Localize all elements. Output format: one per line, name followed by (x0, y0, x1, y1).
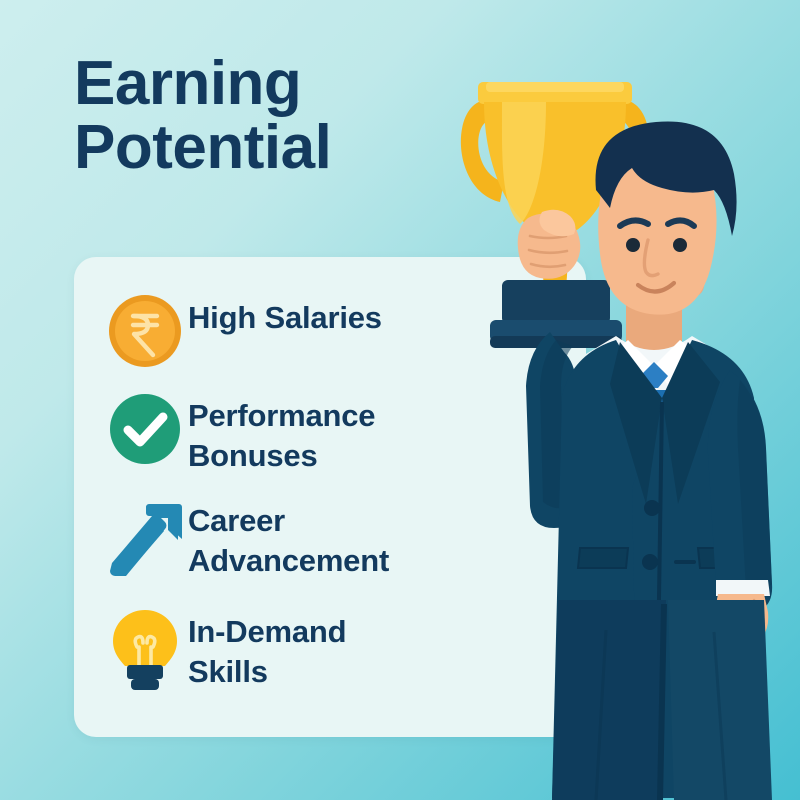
list-item-label: Performance Bonuses (188, 389, 375, 477)
lightbulb-icon (102, 605, 188, 693)
infographic-poster: Earning Potential High Salar (0, 0, 800, 800)
hand-grip (518, 210, 581, 279)
check-circle-icon (102, 389, 188, 467)
list-item-label: In-Demand Skills (188, 605, 346, 693)
businessman-illustration (430, 40, 800, 800)
list-item-label: Career Advancement (188, 494, 389, 582)
rupee-coin-icon (102, 291, 188, 369)
growth-arrow-icon (102, 494, 188, 576)
list-item-label: High Salaries (188, 291, 382, 338)
